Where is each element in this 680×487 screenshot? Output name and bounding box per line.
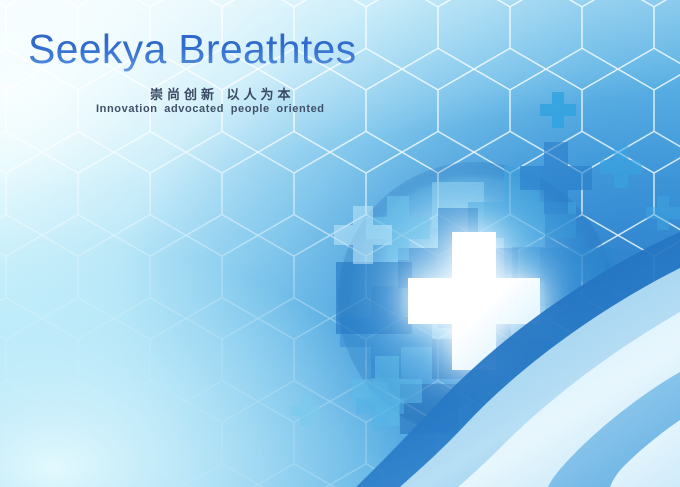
curved-ribbons bbox=[0, 0, 680, 487]
poster-canvas: Seekya Breathtes 崇尚创新 以人为本 Innovation ad… bbox=[0, 0, 680, 487]
slogan-english: Innovation advocated people oriented bbox=[96, 103, 325, 115]
slogan-chinese: 崇尚创新 以人为本 bbox=[150, 84, 295, 103]
page-title: Seekya Breathtes bbox=[28, 26, 356, 73]
